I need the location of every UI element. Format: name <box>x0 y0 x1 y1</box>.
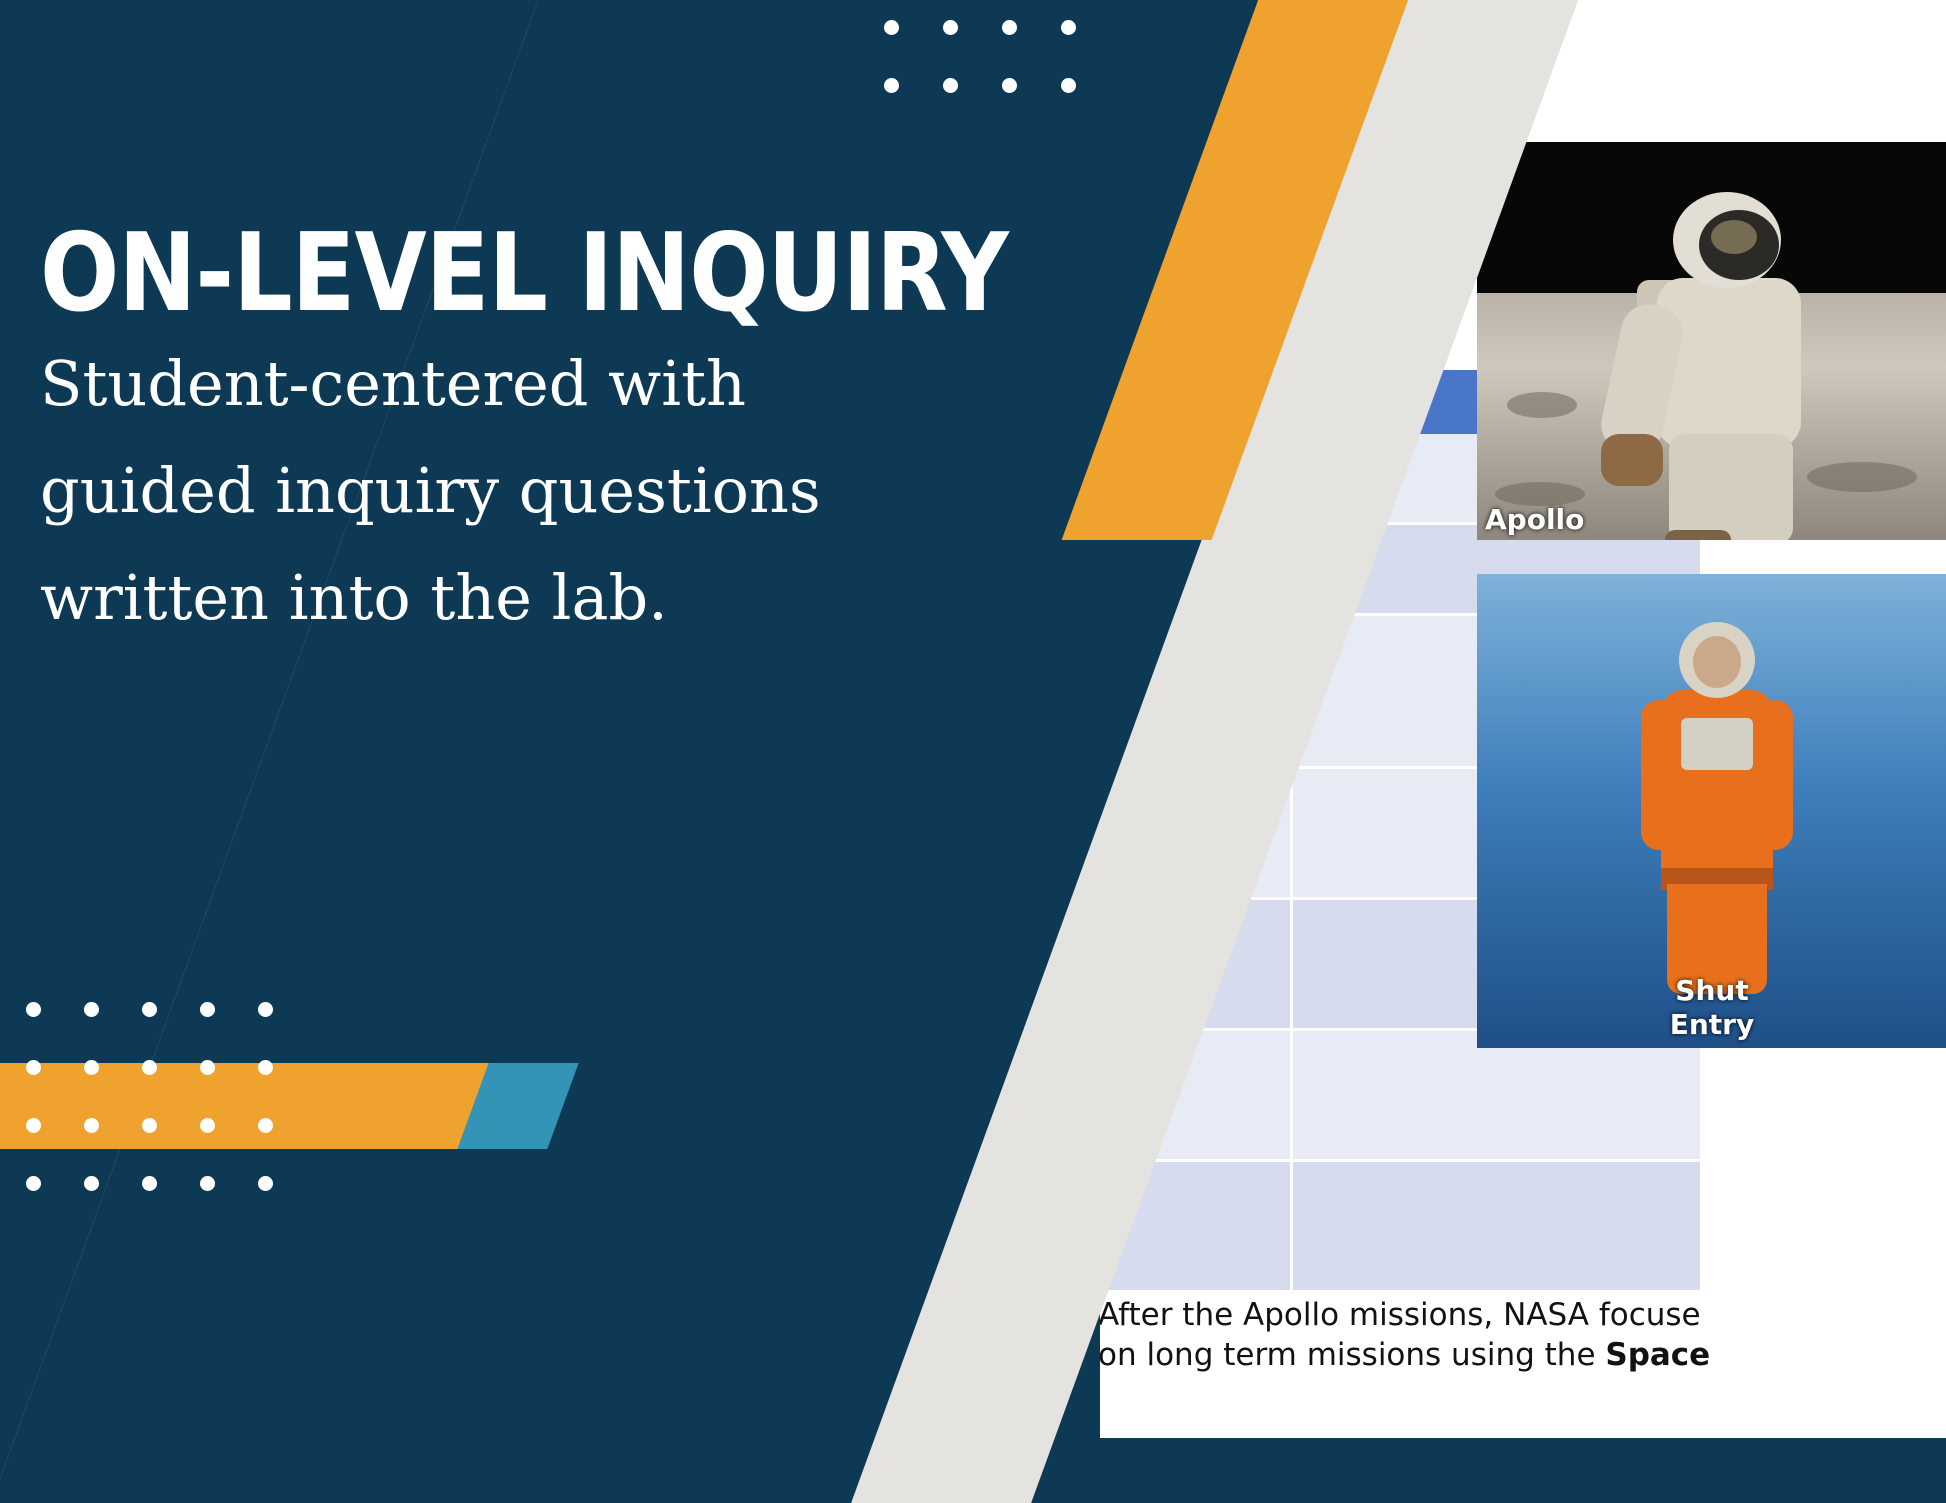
orange-launch-suit <box>1645 622 1785 1002</box>
footer-note-bold: Space <box>1605 1337 1710 1373</box>
dot <box>943 20 958 35</box>
dot <box>84 1176 99 1191</box>
dot <box>884 78 899 93</box>
dot <box>258 1060 273 1075</box>
slide-root: with man surviving on y humans had set f… <box>0 0 1946 1503</box>
dot <box>84 1118 99 1133</box>
dot <box>142 1118 157 1133</box>
dot <box>26 1118 41 1133</box>
table-cell-answer[interactable] <box>1290 1162 1700 1290</box>
dot <box>26 1060 41 1075</box>
astronaut-glove <box>1601 434 1663 486</box>
dot <box>1061 20 1076 35</box>
dot <box>142 1176 157 1191</box>
dot-grid-top <box>884 20 1076 93</box>
visor-reflection <box>1711 220 1757 254</box>
astronaut-legs <box>1669 434 1793 540</box>
dot-grid-bottom <box>26 1002 273 1191</box>
table-row: eating and <box>1100 1162 1700 1293</box>
moon-rock <box>1807 462 1917 492</box>
dot <box>258 1176 273 1191</box>
dot <box>142 1060 157 1075</box>
apollo-astronaut-photo: Apollo <box>1477 142 1946 540</box>
dot <box>142 1002 157 1017</box>
dot <box>26 1002 41 1017</box>
astronaut-face <box>1693 636 1741 688</box>
caption-line-2: Entry <box>1477 1008 1946 1042</box>
dot <box>1002 20 1017 35</box>
shuttle-entry-suit-photo: Shut Entry <box>1477 574 1946 1048</box>
dot <box>1061 78 1076 93</box>
table-cell-answer[interactable] <box>1290 1031 1700 1159</box>
dot <box>884 20 899 35</box>
document-footer-note: After the Apollo missions, NASA focuse o… <box>1100 1295 1920 1413</box>
dot <box>200 1060 215 1075</box>
dot <box>1002 78 1017 93</box>
photo-caption-apollo: Apollo <box>1485 503 1584 536</box>
astronaut-torso <box>1657 278 1801 448</box>
document-footer-bar <box>1100 1438 1946 1455</box>
page-title: ON-LEVEL INQUIRY <box>40 222 1008 326</box>
footer-note-line-1: After the Apollo missions, NASA focuse <box>1100 1295 1710 1335</box>
dot <box>200 1002 215 1017</box>
photo-caption-shuttle: Shut Entry <box>1477 974 1946 1042</box>
dot <box>258 1118 273 1133</box>
caption-line-1: Shut <box>1477 974 1946 1008</box>
page-subtitle: Student-centered with guided inquiry que… <box>40 330 830 651</box>
dot <box>84 1002 99 1017</box>
dot <box>200 1118 215 1133</box>
astronaut-boot <box>1665 530 1731 540</box>
footer-note-line-2-text: on long term missions using the <box>1100 1337 1605 1373</box>
dot <box>258 1002 273 1017</box>
dot <box>943 78 958 93</box>
dot <box>26 1176 41 1191</box>
footer-note-line-2: on long term missions using the Space <box>1100 1335 1710 1375</box>
dot <box>200 1176 215 1191</box>
footer-note-text: After the Apollo missions, NASA focuse o… <box>1100 1295 1710 1375</box>
dot <box>84 1060 99 1075</box>
suit-chest-panel <box>1681 718 1753 770</box>
moon-rock <box>1507 392 1577 418</box>
